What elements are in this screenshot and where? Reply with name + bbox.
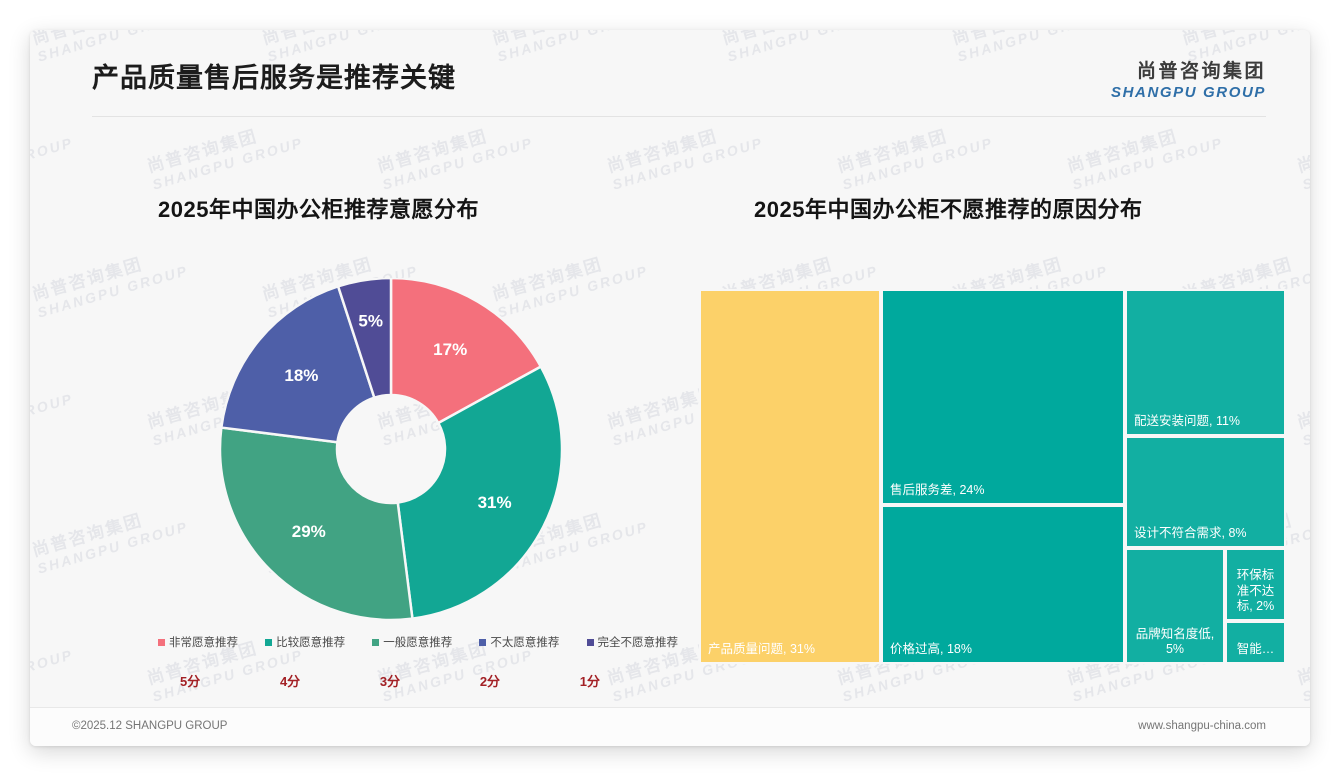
treemap-cell[interactable]: 售后服务差, 24% (881, 289, 1125, 505)
watermark-text: 尚普咨询集团SHANGPU GROUP (1295, 627, 1310, 704)
watermark-text: 尚普咨询集团SHANGPU GROUP (145, 115, 305, 192)
brand-logo-en: SHANGPU GROUP (1111, 84, 1266, 101)
treemap-cell-label: 环保标准不达标, 2% (1231, 568, 1280, 615)
treemap-cell[interactable]: 设计不符合需求, 8% (1125, 436, 1286, 548)
watermark-text: 尚普咨询集团SHANGPU GROUP (30, 115, 75, 192)
slide-header: 产品质量售后服务是推荐关键 尚普咨询集团 SHANGPU GROUP (30, 30, 1310, 116)
legend-swatch-icon (265, 639, 272, 646)
donut-slice-label: 5% (358, 312, 383, 331)
legend-item-label: 非常愿意推荐 (169, 634, 238, 650)
treemap-cell[interactable]: 环保标准不达标, 2% (1225, 548, 1286, 621)
score-axis-row: 5分4分3分2分1分 (180, 671, 600, 690)
legend-swatch-icon (479, 639, 486, 646)
legend-item[interactable]: 一般愿意推荐 (372, 634, 452, 650)
score-label: 5分 (180, 671, 200, 690)
donut-slice-label: 31% (478, 493, 512, 512)
watermark-text: 尚普咨询集团SHANGPU GROUP (1295, 371, 1310, 448)
score-label: 3分 (380, 671, 400, 690)
footer-website: www.shangpu-china.com (1138, 720, 1266, 732)
brand-logo: 尚普咨询集团 SHANGPU GROUP (1111, 56, 1266, 101)
brand-logo-cn: 尚普咨询集团 (1111, 56, 1266, 83)
treemap-cell[interactable]: 品牌知名度低, 5% (1125, 548, 1225, 664)
donut-slice-label: 29% (292, 522, 326, 541)
treemap-cell-label: 设计不符合需求, 8% (1134, 526, 1279, 542)
treemap-cell[interactable]: 智能… (1225, 621, 1286, 664)
slide-canvas: 尚普咨询集团SHANGPU GROUP尚普咨询集团SHANGPU GROUP尚普… (30, 30, 1310, 746)
score-label: 1分 (580, 671, 600, 690)
watermark-text: 尚普咨询集团SHANGPU GROUP (375, 115, 535, 192)
legend-item[interactable]: 不太愿意推荐 (479, 634, 559, 650)
slide-footer: ©2025.12 SHANGPU GROUP www.shangpu-china… (30, 707, 1310, 746)
treemap-cell-label: 产品质量问题, 31% (708, 642, 874, 658)
watermark-text: 尚普咨询集团SHANGPU GROUP (30, 627, 75, 704)
header-divider (92, 116, 1266, 117)
legend-item-label: 完全不愿意推荐 (598, 634, 679, 650)
watermark-text: 尚普咨询集团SHANGPU GROUP (835, 115, 995, 192)
score-label: 2分 (480, 671, 500, 690)
donut-legend: 非常愿意推荐比较愿意推荐一般愿意推荐不太愿意推荐完全不愿意推荐 (158, 634, 678, 650)
watermark-text: 尚普咨询集团SHANGPU GROUP (1065, 115, 1225, 192)
legend-item[interactable]: 非常愿意推荐 (158, 634, 238, 650)
legend-item-label: 一般愿意推荐 (383, 634, 452, 650)
treemap-cell-label: 配送安装问题, 11% (1134, 414, 1279, 430)
treemap-cell[interactable]: 产品质量问题, 31% (699, 289, 881, 664)
watermark-text: 尚普咨询集团SHANGPU GROUP (30, 499, 190, 576)
legend-swatch-icon (372, 639, 379, 646)
legend-item-label: 比较愿意推荐 (276, 634, 345, 650)
watermark-text: 尚普咨询集团SHANGPU GROUP (30, 243, 190, 320)
treemap-cell[interactable]: 配送安装问题, 11% (1125, 289, 1286, 436)
legend-swatch-icon (158, 639, 165, 646)
legend-item[interactable]: 比较愿意推荐 (265, 634, 345, 650)
footer-copyright: ©2025.12 SHANGPU GROUP (72, 720, 227, 732)
watermark-text: 尚普咨询集团SHANGPU GROUP (30, 371, 75, 448)
watermark-text: 尚普咨询集团SHANGPU GROUP (1295, 115, 1310, 192)
watermark-text: 尚普咨询集团SHANGPU GROUP (605, 115, 765, 192)
legend-item-label: 不太愿意推荐 (490, 634, 559, 650)
treemap-cell[interactable]: 价格过高, 18% (881, 505, 1125, 664)
page-title: 产品质量售后服务是推荐关键 (92, 56, 456, 95)
donut-chart-svg: 17%31%29%18%5% (220, 278, 562, 620)
treemap-cell-label: 智能… (1231, 642, 1280, 658)
donut-slice-label: 18% (284, 366, 318, 385)
legend-swatch-icon (587, 639, 594, 646)
donut-chart: 17%31%29%18%5% (220, 278, 562, 620)
donut-chart-title: 2025年中国办公柜推荐意愿分布 (158, 192, 479, 224)
treemap-cell-label: 售后服务差, 24% (890, 483, 1118, 499)
treemap-cell-label: 价格过高, 18% (890, 642, 1118, 658)
treemap-chart: 产品质量问题, 31%售后服务差, 24%价格过高, 18%配送安装问题, 11… (699, 289, 1286, 664)
treemap-cell-label: 品牌知名度低, 5% (1131, 627, 1219, 658)
score-label: 4分 (280, 671, 300, 690)
legend-item[interactable]: 完全不愿意推荐 (587, 634, 679, 650)
donut-slice-label: 17% (433, 340, 467, 359)
treemap-chart-title: 2025年中国办公柜不愿推荐的原因分布 (754, 192, 1142, 224)
